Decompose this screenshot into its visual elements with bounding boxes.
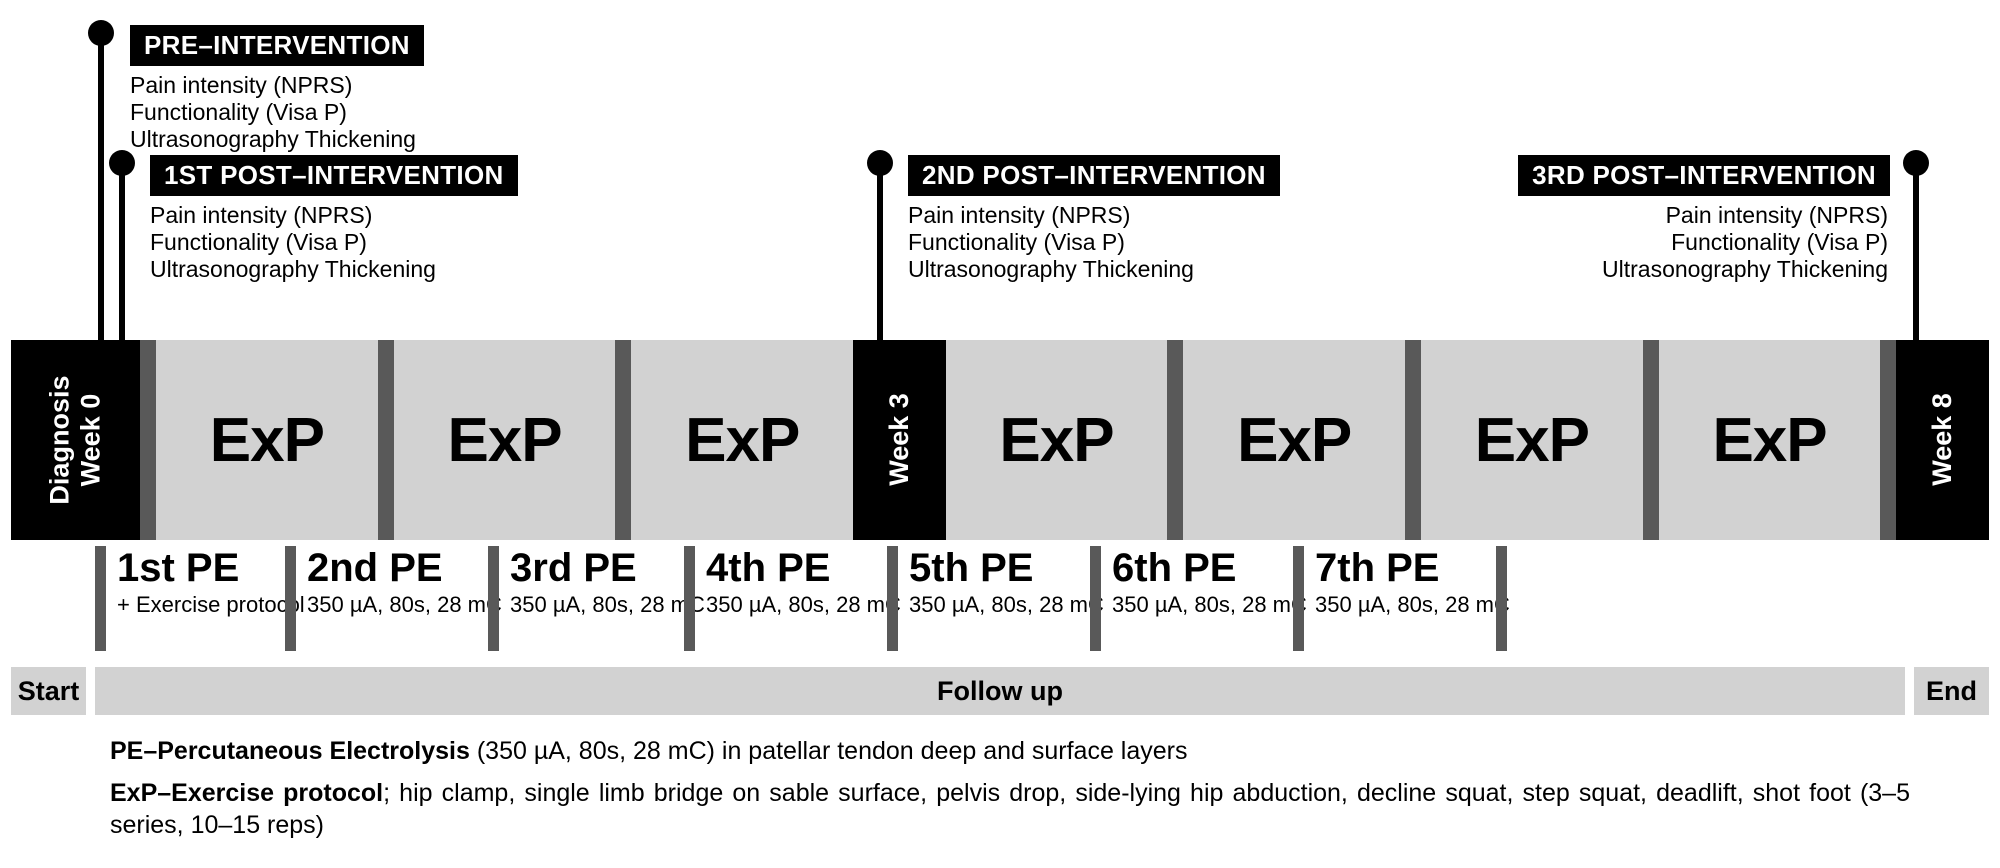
footnote-pe-term: PE–Percutaneous Electrolysis: [110, 737, 470, 765]
measure-pain-intensity: Pain intensity (NPRS): [130, 72, 424, 99]
exp-block-1: ExP: [156, 340, 378, 540]
week-marker-end: Week 8: [1896, 340, 1989, 540]
footnote-pe-rest: (350 µA, 80s, 28 mC) in patellar tendon …: [470, 737, 1188, 765]
pe-session-4-name: 4th PE: [706, 546, 830, 590]
week-start-line2: Week 0: [76, 394, 106, 487]
pe-session-5-name: 5th PE: [909, 546, 1033, 590]
followup-start-label: Start: [11, 667, 86, 715]
callout-items-3rd-post-intervention: Pain intensity (NPRS) Functionality (Vis…: [1518, 202, 1890, 282]
pin-3rd-post-intervention: [1913, 163, 1919, 340]
week-marker-start-label: Diagnosis Week 0: [44, 375, 106, 504]
pe-session-7-name: 7th PE: [1315, 546, 1439, 590]
week-marker-start: Diagnosis Week 0: [11, 340, 140, 540]
callout-title-1st-post-intervention: 1ST POST–INTERVENTION: [150, 155, 518, 196]
pe-session-6-dose: 350 µA, 80s, 28 mC: [1112, 592, 1307, 618]
block-separator: [1167, 340, 1183, 540]
measure-pain-intensity: Pain intensity (NPRS): [150, 202, 518, 229]
footnote-exp-term: ExP–Exercise protocol: [110, 779, 383, 807]
exp-block-4: ExP: [946, 340, 1168, 540]
block-separator: [1880, 340, 1896, 540]
measure-ultrasonography: Ultrasonography Thickening: [150, 256, 518, 283]
block-separator: [1643, 340, 1659, 540]
week-marker-mid: Week 3: [853, 340, 946, 540]
measure-pain-intensity: Pain intensity (NPRS): [908, 202, 1280, 229]
pe-session-1-dose: + Exercise protocol: [117, 592, 305, 618]
pe-session-5-dose: 350 µA, 80s, 28 mC: [909, 592, 1104, 618]
pe-session-2-dose: 350 µA, 80s, 28 mC: [307, 592, 502, 618]
exp-block-5: ExP: [1183, 340, 1405, 540]
callout-2nd-post-intervention: 2ND POST–INTERVENTION Pain intensity (NP…: [908, 155, 1280, 282]
measure-ultrasonography: Ultrasonography Thickening: [130, 126, 424, 153]
pe-tick-icon: [1090, 546, 1101, 651]
measure-pain-intensity: Pain intensity (NPRS): [1518, 202, 1890, 229]
followup-end-label: End: [1914, 667, 1989, 715]
timeline-bar: Diagnosis Week 0 ExP ExP ExP Week 3 ExP …: [11, 340, 1989, 540]
exp-block-6: ExP: [1421, 340, 1643, 540]
footnote-exp: ExP–Exercise protocol; hip clamp, single…: [110, 777, 1910, 841]
pe-tick-icon: [95, 546, 106, 651]
week-marker-mid-label: Week 3: [884, 394, 915, 487]
block-separator: [140, 340, 156, 540]
block-separator: [378, 340, 394, 540]
pe-session-row: 1st PE + Exercise protocol 2nd PE 350 µA…: [11, 546, 1989, 666]
pe-tick-icon: [1496, 546, 1507, 651]
measure-ultrasonography: Ultrasonography Thickening: [1518, 256, 1890, 283]
pe-tick-icon: [684, 546, 695, 651]
measure-ultrasonography: Ultrasonography Thickening: [908, 256, 1280, 283]
pe-session-3-name: 3rd PE: [510, 546, 637, 590]
pin-2nd-post-intervention: [877, 163, 883, 340]
followup-strip: Start Follow up End: [11, 667, 1989, 715]
exp-block-7: ExP: [1659, 340, 1881, 540]
block-separator: [615, 340, 631, 540]
block-separator: [1405, 340, 1421, 540]
callout-items-1st-post-intervention: Pain intensity (NPRS) Functionality (Vis…: [150, 202, 518, 282]
callout-title-2nd-post-intervention: 2ND POST–INTERVENTION: [908, 155, 1280, 196]
callout-items-pre-intervention: Pain intensity (NPRS) Functionality (Vis…: [130, 72, 424, 152]
pe-tick-icon: [1293, 546, 1304, 651]
pe-session-6-name: 6th PE: [1112, 546, 1236, 590]
pin-dot-icon: [88, 20, 114, 46]
measure-functionality: Functionality (Visa P): [150, 229, 518, 256]
callout-items-2nd-post-intervention: Pain intensity (NPRS) Functionality (Vis…: [908, 202, 1280, 282]
pe-session-7-dose: 350 µA, 80s, 28 mC: [1315, 592, 1510, 618]
pe-session-4-dose: 350 µA, 80s, 28 mC: [706, 592, 901, 618]
exp-block-2: ExP: [394, 340, 616, 540]
pe-tick-icon: [887, 546, 898, 651]
pin-pre-intervention: [98, 33, 104, 340]
callout-title-3rd-post-intervention: 3RD POST–INTERVENTION: [1518, 155, 1890, 196]
week-start-line1: Diagnosis: [44, 375, 74, 504]
callout-3rd-post-intervention: 3RD POST–INTERVENTION Pain intensity (NP…: [1518, 155, 1890, 282]
callout-pre-intervention: PRE–INTERVENTION Pain intensity (NPRS) F…: [130, 25, 424, 152]
pin-dot-icon: [867, 150, 893, 176]
exp-block-3: ExP: [631, 340, 853, 540]
footnotes: PE–Percutaneous Electrolysis (350 µA, 80…: [110, 735, 1910, 851]
pin-1st-post-intervention: [119, 163, 125, 340]
callout-1st-post-intervention: 1ST POST–INTERVENTION Pain intensity (NP…: [150, 155, 518, 282]
measure-functionality: Functionality (Visa P): [908, 229, 1280, 256]
footnote-pe: PE–Percutaneous Electrolysis (350 µA, 80…: [110, 735, 1910, 767]
pe-tick-icon: [488, 546, 499, 651]
pe-session-3-dose: 350 µA, 80s, 28 mC: [510, 592, 705, 618]
week-marker-end-label: Week 8: [1927, 394, 1958, 487]
measure-functionality: Functionality (Visa P): [130, 99, 424, 126]
measure-functionality: Functionality (Visa P): [1518, 229, 1890, 256]
pe-session-2-name: 2nd PE: [307, 546, 443, 590]
pin-dot-icon: [109, 150, 135, 176]
pin-dot-icon: [1903, 150, 1929, 176]
callout-title-pre-intervention: PRE–INTERVENTION: [130, 25, 424, 66]
followup-middle-label: Follow up: [95, 667, 1905, 715]
pe-session-1-name: 1st PE: [117, 546, 239, 590]
pe-tick-icon: [285, 546, 296, 651]
